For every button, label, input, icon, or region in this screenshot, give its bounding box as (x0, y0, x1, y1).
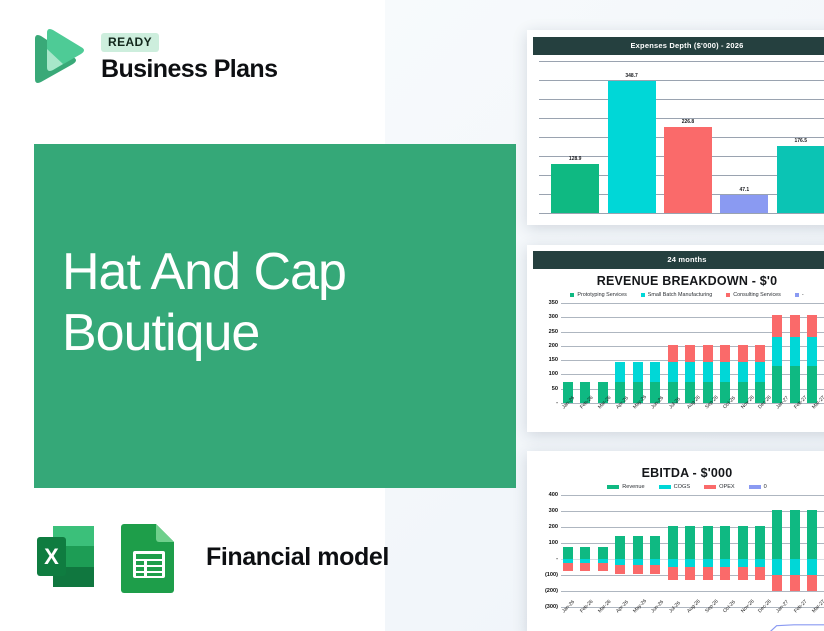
stack-segment (772, 315, 782, 336)
financial-model-label: Financial model (206, 543, 389, 572)
microsoft-excel-icon: X (34, 521, 100, 593)
stack-segment (807, 337, 817, 367)
stack-segment (720, 567, 730, 579)
expenses-bar (551, 164, 599, 213)
stack-segment (738, 345, 748, 362)
expenses-bar-group: 176.5 (777, 61, 824, 213)
column (772, 495, 782, 607)
revenue-chart-header: 24 months (533, 251, 824, 269)
stack-segment (563, 547, 573, 559)
ebitda-plot-area: 400300200100-(100)(200)(300) (535, 495, 824, 607)
legend-swatch (704, 485, 716, 489)
stack-segment (772, 559, 782, 575)
google-sheets-icon (118, 521, 184, 593)
y-axis-tick: 300 (549, 508, 558, 514)
legend-label: Small Batch Manufacturing (648, 292, 712, 298)
stack-segment (755, 567, 765, 579)
stack-segment (633, 536, 643, 559)
stack-segment (703, 567, 713, 579)
revenue-x-axis-labels: Jan-26Feb-26Mar-26Apr-26May-26Jun-26Jul-… (559, 403, 824, 412)
expenses-bar (720, 195, 768, 213)
stack-segment (755, 526, 765, 559)
stack-segment (790, 366, 800, 403)
stack-segment (720, 362, 730, 382)
column (650, 303, 660, 403)
column (580, 303, 590, 403)
column (772, 303, 782, 403)
stack-segment (807, 575, 817, 591)
legend-item: Small Batch Manufacturing (641, 292, 712, 298)
column (598, 303, 608, 403)
stack-segment (668, 345, 678, 362)
column (790, 303, 800, 403)
hero-block: Hat And Cap Boutique (34, 144, 516, 488)
stack-segment (668, 526, 678, 559)
plot-area (561, 303, 824, 403)
expenses-bar (608, 81, 656, 214)
plot-area (561, 495, 824, 607)
play-triangle-icon (25, 27, 87, 89)
columns (561, 303, 824, 403)
legend-swatch (749, 485, 761, 489)
columns (561, 495, 824, 607)
legend-swatch (726, 293, 730, 297)
stack-segment (807, 510, 817, 559)
stack-segment (685, 559, 695, 567)
legend-label: Consulting Services (733, 292, 781, 298)
y-axis-tick: (200) (545, 588, 558, 594)
stack-segment (807, 559, 817, 575)
y-axis-tick: 200 (549, 524, 558, 530)
column (615, 495, 625, 607)
column (807, 303, 817, 403)
y-axis-tick: (300) (545, 604, 558, 610)
expenses-bar-value: 226.8 (664, 119, 712, 125)
column (633, 495, 643, 607)
stack-segment (720, 526, 730, 559)
revenue-legend: Prototyping ServicesSmall Batch Manufact… (533, 290, 824, 301)
stack-segment (807, 315, 817, 336)
column (563, 303, 573, 403)
y-axis-tick: (100) (545, 572, 558, 578)
stack-segment (650, 565, 660, 574)
revenue-plot-area: 35030025020015010050- (535, 303, 824, 403)
stack-segment (598, 547, 608, 559)
y-axis-tick: 100 (549, 540, 558, 546)
stack-segment (738, 362, 748, 382)
chart-card-revenue-breakdown: 24 months REVENUE BREAKDOWN - $'0 Protot… (527, 245, 824, 432)
expenses-bar-group: 47.1 (720, 61, 768, 213)
stack-segment (772, 337, 782, 367)
column (650, 495, 660, 607)
stack-segment (738, 567, 748, 579)
y-axis-tick: 100 (549, 371, 558, 377)
stack-segment (738, 526, 748, 559)
stack-segment (633, 565, 643, 574)
column (668, 303, 678, 403)
column (703, 495, 713, 607)
chart-card-ebitda: EBITDA - $'000 RevenueCOGSOPEX0 40030020… (527, 451, 824, 631)
stack-segment (615, 565, 625, 574)
stack-segment (790, 315, 800, 336)
y-axis: 400300200100-(100)(200)(300) (535, 495, 561, 607)
column (615, 303, 625, 403)
stack-segment (703, 362, 713, 382)
legend-label: - (802, 292, 804, 298)
stack-segment (633, 362, 643, 382)
expenses-bar-value: 128.9 (551, 156, 599, 162)
column (755, 303, 765, 403)
stack-segment (772, 510, 782, 559)
y-axis-tick: 350 (549, 300, 558, 306)
brand-name: Business Plans (101, 55, 277, 84)
stack-segment (668, 362, 678, 382)
format-icons-row: X Financial model (34, 521, 389, 593)
expenses-bar (777, 146, 824, 213)
stack-segment (790, 510, 800, 559)
legend-item: Revenue (607, 484, 644, 490)
expenses-bar-value: 348.7 (608, 73, 656, 79)
stack-segment (807, 366, 817, 403)
stack-segment (703, 559, 713, 567)
column (598, 495, 608, 607)
column (563, 495, 573, 607)
expenses-bar-group: 348.7 (608, 61, 656, 213)
legend-item: 0 (749, 484, 767, 490)
column (685, 495, 695, 607)
gridline (539, 213, 824, 214)
column (755, 495, 765, 607)
stack-segment (720, 345, 730, 362)
legend-swatch (641, 293, 645, 297)
legend-swatch (659, 485, 671, 489)
stack-segment (580, 563, 590, 571)
stack-segment (755, 345, 765, 362)
legend-swatch (607, 485, 619, 489)
legend-item: - (795, 292, 804, 298)
stack-segment (580, 547, 590, 559)
y-axis-tick: - (556, 400, 558, 406)
expenses-bars: 128.9348.7226.847.1176.5 (539, 61, 824, 213)
expenses-bar-group: 128.9 (551, 61, 599, 213)
expenses-bar (664, 127, 712, 213)
expenses-chart-header: Expenses Depth ($'000) - 2026 (533, 37, 824, 55)
legend-item: OPEX (704, 484, 735, 490)
stack-segment (772, 575, 782, 591)
ebitda-chart-title: EBITDA - $'000 (533, 461, 824, 482)
stack-segment (703, 526, 713, 559)
stack-segment (772, 366, 782, 403)
stack-segment (703, 345, 713, 362)
chart-card-expenses: Expenses Depth ($'000) - 2026 128.9348.7… (527, 30, 824, 225)
legend-label: Revenue (622, 484, 644, 490)
stack-segment (790, 559, 800, 575)
y-axis-tick: 50 (552, 386, 558, 392)
column (807, 495, 817, 607)
stack-segment (738, 559, 748, 567)
stack-segment (755, 362, 765, 382)
legend-item: Prototyping Services (570, 292, 626, 298)
legend-label: COGS (674, 484, 690, 490)
column (738, 303, 748, 403)
expenses-bar-value: 47.1 (720, 187, 768, 193)
column (685, 303, 695, 403)
revenue-chart-title: REVENUE BREAKDOWN - $'0 (533, 269, 824, 290)
brand-lockup: READY Business Plans (25, 27, 277, 89)
y-axis-tick: 300 (549, 314, 558, 320)
stack-segment (563, 563, 573, 571)
legend-label: 0 (764, 484, 767, 490)
legend-item: COGS (659, 484, 690, 490)
legend-item: Consulting Services (726, 292, 781, 298)
legend-label: Prototyping Services (577, 292, 626, 298)
stack-segment (668, 567, 678, 579)
page-title: Hat And Cap Boutique (62, 242, 482, 364)
y-axis-tick: 150 (549, 357, 558, 363)
stack-segment (720, 559, 730, 567)
expenses-bar-group: 226.8 (664, 61, 712, 213)
stack-segment (598, 563, 608, 571)
ready-badge: READY (101, 33, 159, 52)
stack-segment (650, 362, 660, 382)
expenses-bar-value: 176.5 (777, 138, 824, 144)
legend-swatch (570, 293, 574, 297)
stack-segment (685, 362, 695, 382)
stack-segment (650, 536, 660, 559)
column (720, 495, 730, 607)
legend-swatch (795, 293, 799, 297)
svg-text:X: X (44, 544, 59, 569)
column (633, 303, 643, 403)
expenses-plot-area: 128.9348.7226.847.1176.5 (539, 61, 824, 213)
y-axis-tick: 400 (549, 492, 558, 498)
stack-segment (790, 575, 800, 591)
stack-segment (668, 559, 678, 567)
stack-segment (790, 337, 800, 367)
stack-segment (685, 526, 695, 559)
y-axis-tick: - (556, 556, 558, 562)
y-axis-tick: 200 (549, 343, 558, 349)
ebitda-x-axis-labels: Jan-26Feb-26Mar-26Apr-26May-26Jun-26Jul-… (559, 607, 824, 616)
column (580, 495, 590, 607)
stack-segment (615, 362, 625, 382)
stack-segment (685, 567, 695, 579)
slide-canvas: READY Business Plans Hat And Cap Boutiqu… (0, 0, 824, 631)
stack-segment (685, 345, 695, 362)
column (790, 495, 800, 607)
column (703, 303, 713, 403)
y-axis: 35030025020015010050- (535, 303, 561, 403)
column (668, 495, 678, 607)
column (738, 495, 748, 607)
column (720, 303, 730, 403)
stack-segment (755, 559, 765, 567)
ebitda-legend: RevenueCOGSOPEX0 (533, 482, 824, 493)
y-axis-tick: 250 (549, 329, 558, 335)
legend-label: OPEX (719, 484, 735, 490)
stack-segment (615, 536, 625, 559)
